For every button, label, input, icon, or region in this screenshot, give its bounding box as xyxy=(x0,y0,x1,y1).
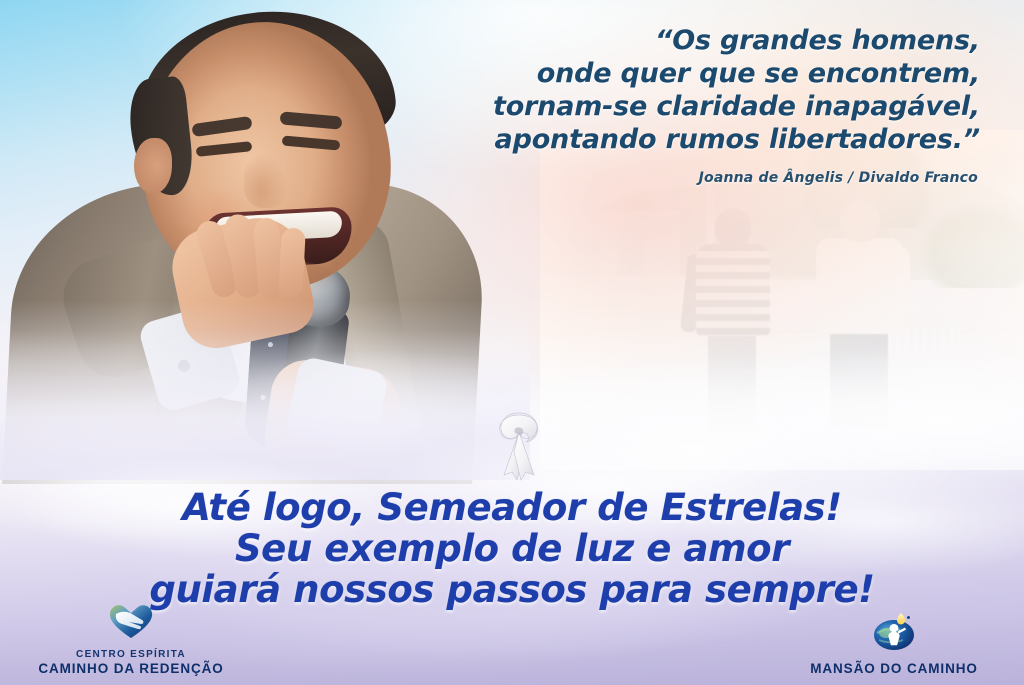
headline-line-2: Seu exemplo de luz e amor xyxy=(0,528,1024,569)
headline-line-1: Até logo, Semeador de Estrelas! xyxy=(0,487,1024,528)
quote-block: “Os grandes homens, onde quer que se enc… xyxy=(420,24,980,156)
headline-block: Até logo, Semeador de Estrelas! Seu exem… xyxy=(0,487,1024,610)
logo-centro-espirita: CENTRO ESPÍRITA CAMINHO DA REDENÇÃO xyxy=(6,602,256,677)
tribute-poster: “Os grandes homens, onde quer que se enc… xyxy=(0,0,1024,685)
quote-line-4: apontando rumos libertadores.” xyxy=(420,123,980,156)
quote-line-1: “Os grandes homens, xyxy=(420,24,980,57)
logo-left-line-2: CAMINHO DA REDENÇÃO xyxy=(6,661,256,677)
logo-left-line-1: CENTRO ESPÍRITA xyxy=(6,648,256,661)
logo-mansao-do-caminho: MANSÃO DO CAMINHO xyxy=(774,611,1014,677)
quote-line-3: tornam-se claridade inapagável, xyxy=(420,90,980,123)
logo-right-line-2: MANSÃO DO CAMINHO xyxy=(774,661,1014,677)
quote-line-2: onde quer que se encontrem, xyxy=(420,57,980,90)
quote-attribution: Joanna de Ângelis / Divaldo Franco xyxy=(418,170,978,186)
globe-figure-flame-icon xyxy=(774,611,1014,658)
mourning-ribbon-icon xyxy=(486,409,552,481)
heart-hands-icon xyxy=(6,602,256,645)
